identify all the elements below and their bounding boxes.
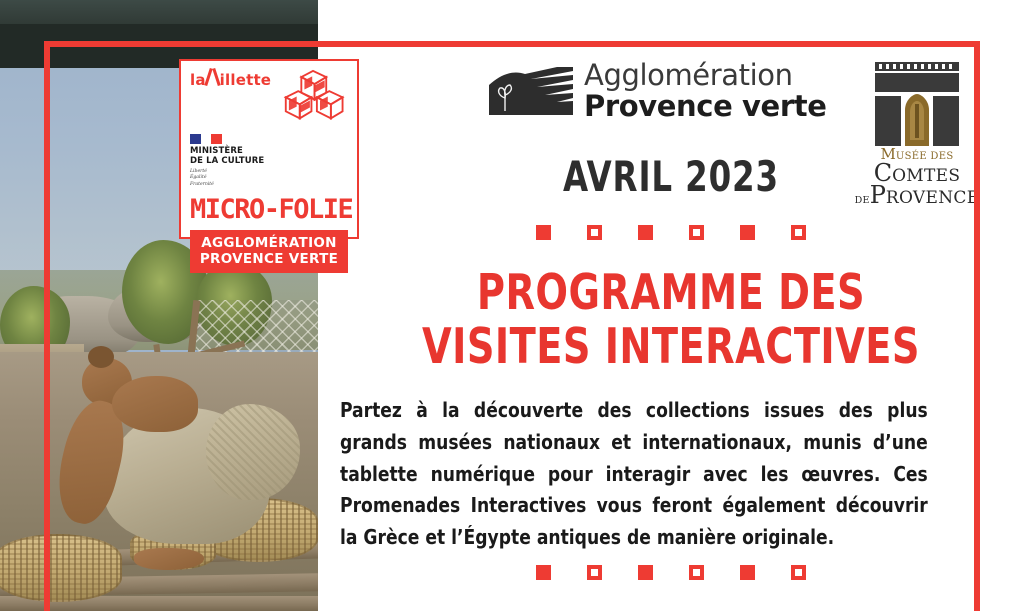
agglomeration-hill-sprout-icon <box>487 65 573 117</box>
agglomeration-line-2: Provence verte <box>584 92 826 121</box>
agglomeration-line-1: Agglomération <box>584 61 826 90</box>
micro-folie-badge: la illette <box>179 59 359 239</box>
square-divider-bottom <box>318 565 1024 580</box>
divider-square <box>740 225 755 240</box>
flag-white <box>201 134 212 144</box>
la-villette-suffix: illette <box>220 73 272 88</box>
agglomeration-provence-verte-logo: Agglomération Provence verte <box>487 61 826 121</box>
divider-square <box>536 225 551 240</box>
french-flag-icon <box>190 134 222 144</box>
micro-folie-wordmark: MICRO-FOLIE <box>190 196 348 223</box>
divider-square <box>791 225 806 240</box>
photo-basket <box>0 534 122 602</box>
la-villette-logo: la illette <box>190 68 348 124</box>
page-title-line-1: PROGRAMME DES <box>364 266 978 320</box>
date-heading: AVRIL 2023 <box>367 152 974 201</box>
republic-motto: Liberté Égalité Fraternité <box>190 169 348 189</box>
museum-arch-icon <box>871 60 963 146</box>
square-divider-top <box>318 225 1024 240</box>
photo-figure-foot <box>134 548 204 570</box>
body-paragraph: Partez à la découverte des collections i… <box>340 395 928 554</box>
divider-square <box>638 565 653 580</box>
badge-band-line-2: PROVENCE VERTE <box>194 251 344 267</box>
divider-square <box>638 225 653 240</box>
divider-square <box>587 565 602 580</box>
divider-square <box>587 225 602 240</box>
motto-line-2: Égalité <box>190 175 348 182</box>
photo-figure-sack <box>206 404 300 500</box>
flag-blue <box>190 134 201 144</box>
agglomeration-wordmark: Agglomération Provence verte <box>584 61 826 121</box>
micro-folie-cubes-icon <box>278 66 348 124</box>
ministry-line-2: DE LA CULTURE <box>190 157 348 167</box>
la-villette-wordmark: la illette <box>190 68 271 88</box>
ministry-label: MINISTÈRE DE LA CULTURE <box>190 147 348 167</box>
divider-square <box>689 225 704 240</box>
la-villette-prefix: la <box>190 73 206 88</box>
flag-red <box>211 134 222 144</box>
page-title: PROGRAMME DES VISITES INTERACTIVES <box>364 266 978 374</box>
photo-figure-shoulder <box>112 376 198 432</box>
divider-square <box>740 565 755 580</box>
badge-band-line-1: AGGLOMÉRATION <box>194 235 344 251</box>
photo-figure-hairbun <box>88 346 114 368</box>
divider-square <box>689 565 704 580</box>
villette-chevron-icon <box>205 68 221 85</box>
page-title-line-2: VISITES INTERACTIVES <box>364 320 978 374</box>
motto-line-3: Fraternité <box>190 182 348 189</box>
motto-line-1: Liberté <box>190 169 348 176</box>
divider-square <box>791 565 806 580</box>
badge-agglomeration-band: AGGLOMÉRATION PROVENCE VERTE <box>190 230 348 274</box>
divider-square <box>536 565 551 580</box>
